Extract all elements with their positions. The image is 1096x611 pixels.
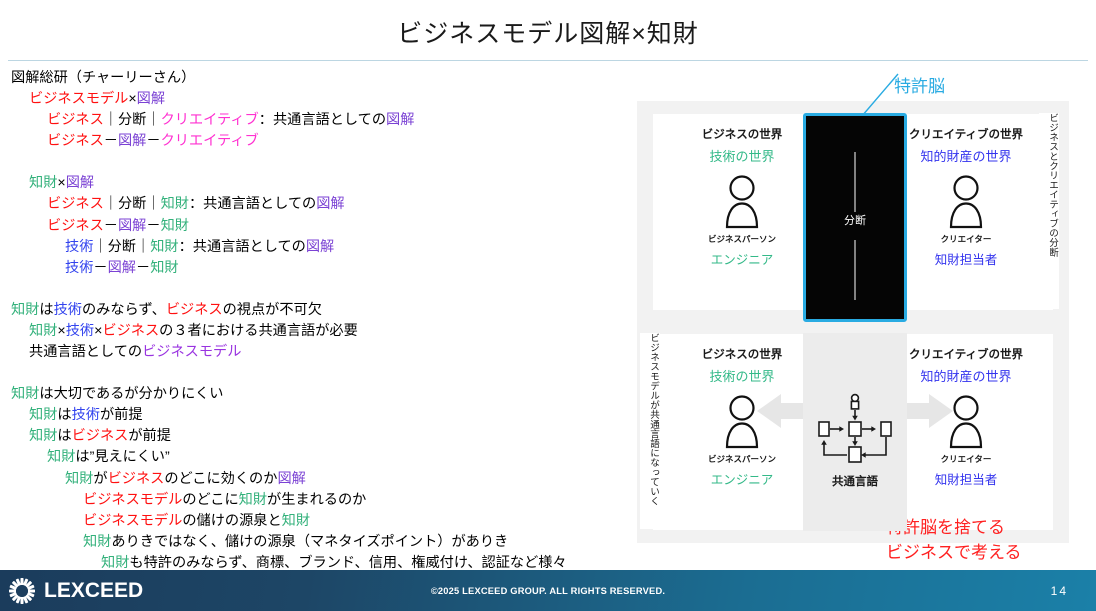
outline-span: 図解 (386, 112, 414, 128)
outline-span: 分断 (108, 239, 136, 255)
outline-span: が (93, 471, 107, 487)
outline-line: ビジネス｜分断｜クリエイティブ：共通言語としての図解 (11, 110, 651, 131)
outline-span: 共通言語としての (29, 344, 142, 360)
outline-span: 分断 (118, 112, 146, 128)
business-model-glyph-icon (817, 393, 893, 467)
common-language-label: 共通言語 (803, 473, 907, 489)
outline-span: 図解 (277, 471, 305, 487)
outline-span: ｜ (104, 112, 118, 128)
outline-span: 知財 (29, 175, 57, 191)
outline-span: 技術 (72, 407, 100, 423)
outline-span: 図解 (66, 175, 94, 191)
outline-spacer (11, 152, 651, 173)
outline-span: 知財 (29, 323, 57, 339)
world-subheading: 知的財産の世界 (891, 146, 1041, 165)
outline-span: が前提 (128, 428, 171, 444)
bottom-annotation-line2: ビジネスで考える (886, 540, 1022, 565)
outline-span: 知財 (150, 239, 178, 255)
outline-line: 知財はビジネスが前提 (11, 426, 651, 447)
outline-spacer (11, 363, 651, 384)
outline-span: 図解 (118, 218, 146, 234)
outline-span: 知財 (29, 428, 57, 444)
outline-span: は”見えにくい” (75, 449, 169, 465)
title-divider (8, 60, 1088, 61)
world-subheading: 知的財産の世界 (891, 366, 1041, 385)
bottom-left-world: ビジネスの世界 技術の世界 ビジネスパーソン エンジニア (667, 346, 817, 488)
top-left-world: ビジネスの世界 技術の世界 ビジネスパーソン エンジニア (667, 126, 817, 268)
world-heading: クリエイティブの世界 (891, 126, 1041, 142)
outline-line: 知財ありきではなく、儲けの源泉（マネタイズポイント）がありき (11, 532, 651, 553)
division-line-lower (855, 240, 856, 300)
outline-span: － (93, 260, 107, 276)
outline-span: 技術 (54, 302, 82, 318)
outline-span: も特許のみならず、商標、ブランド、信用、権威付け、認証など様々 (129, 555, 566, 571)
world-role-alt: 知財担当者 (891, 469, 1041, 488)
outline-line: ビジネスモデル×図解 (11, 89, 651, 110)
page-number: 14 (1051, 570, 1068, 611)
outline-span: のどこに効くのか (164, 471, 277, 487)
outline-span: ｜ (146, 112, 160, 128)
outline-span: ：共通言語としての (189, 196, 316, 212)
outline-span: 技術 (65, 260, 93, 276)
page-title: ビジネスモデル図解×知財 (0, 14, 1096, 50)
world-role: ビジネスパーソン (667, 233, 817, 245)
outline-span: － (146, 218, 160, 234)
outline-span: が前提 (100, 407, 143, 423)
outline-line: ビジネス｜分断｜知財：共通言語としての図解 (11, 194, 651, 215)
outline-span: ビジネス (166, 302, 223, 318)
outline-span: クリエイティブ (161, 133, 259, 149)
outline-line: 知財×図解 (11, 173, 651, 194)
outline-span: ビジネス (47, 112, 104, 128)
outline-span: ビジネス (47, 133, 104, 149)
outline-span: ビジネスモデル (83, 492, 182, 508)
bottom-right-world: クリエイティブの世界 知的財産の世界 クリエイター 知財担当者 (891, 346, 1041, 488)
outline-span: は大切であるが分かりにくい (39, 386, 223, 402)
outline-line: ビジネスモデルのどこに知財が生まれるのか (11, 490, 651, 511)
outline-span: 知財 (11, 386, 39, 402)
outline-span: 技術 (66, 323, 94, 339)
outline-span: 知財 (239, 492, 267, 508)
outline-span: ｜ (136, 239, 150, 255)
world-subheading: 技術の世界 (667, 146, 817, 165)
outline-span: は (57, 407, 71, 423)
outline-span: 図解 (137, 91, 165, 107)
outline-line: 技術｜分断｜知財：共通言語としての図解 (11, 237, 651, 258)
outline-span: ｜ (93, 239, 107, 255)
outline-span: 図解 (306, 239, 334, 255)
outline-span: クリエイティブ (161, 112, 259, 128)
world-role: ビジネスパーソン (667, 453, 817, 465)
bottom-panel-side-label: ビジネスモデルが共通言語になっていく (640, 333, 660, 529)
outline-span: 知財 (282, 513, 310, 529)
outline-span: のみならず、 (82, 302, 166, 318)
outline-span: の視点が不可欠 (223, 302, 322, 318)
world-heading: クリエイティブの世界 (891, 346, 1041, 362)
outline-line: 知財は大切であるが分かりにくい (11, 384, 651, 405)
slide-root: ビジネスモデル図解×知財 図解総研（チャーリーさん）ビジネスモデル×図解ビジネス… (0, 0, 1096, 611)
outline-span: 分断 (118, 196, 146, 212)
outline-line: 技術－図解－知財 (11, 258, 651, 279)
copyright-text: ©2025 LEXCEED GROUP. ALL RIGHTS RESERVED… (0, 570, 1096, 611)
world-role-alt: エンジニア (667, 249, 817, 268)
outline-spacer (11, 279, 651, 300)
outline-span: 図解 (118, 133, 146, 149)
business-person-icon (719, 394, 765, 449)
outline-span: 知財 (11, 302, 39, 318)
outline-span: 技術 (65, 239, 93, 255)
outline-line: ビジネス－図解－クリエイティブ (11, 131, 651, 152)
outline-line: 知財がビジネスのどこに効くのか図解 (11, 469, 651, 490)
outline-span: 知財 (29, 407, 57, 423)
outline-line: 図解総研（チャーリーさん） (11, 68, 651, 89)
outline-span: ありきではなく、儲けの源泉（マネタイズポイント）がありき (111, 534, 508, 550)
outline-span: のどこに (182, 492, 238, 508)
creator-person-icon (943, 174, 989, 229)
outline-span: 知財 (101, 555, 129, 571)
outline-line: 共通言語としてのビジネスモデル (11, 342, 651, 363)
business-person-icon (719, 174, 765, 229)
concept-diagram: ビジネスの世界 技術の世界 ビジネスパーソン エンジニア クリエイティブの世界 … (637, 101, 1069, 543)
outline-span: － (136, 260, 150, 276)
outline-span: ビジネス (47, 196, 104, 212)
outline-span: ：共通言語としての (259, 112, 386, 128)
division-label: 分断 (806, 212, 904, 228)
outline-span: 図解総研（チャーリーさん） (11, 70, 195, 86)
outline-line: 知財×技術×ビジネスの３者における共通言語が必要 (11, 321, 651, 342)
creator-person-icon (943, 394, 989, 449)
outline-span: × (57, 323, 65, 339)
outline-span: ビジネス (108, 471, 165, 487)
outline-span: ビジネス (102, 323, 159, 339)
slide-footer: LEXCEED ©2025 LEXCEED GROUP. ALL RIGHTS … (0, 570, 1096, 611)
outline-span: 知財 (161, 196, 189, 212)
world-heading: ビジネスの世界 (667, 126, 817, 142)
outline-span: ビジネスモデル (142, 344, 241, 360)
outline-span: － (146, 133, 160, 149)
top-annotation: 特許脳 (894, 72, 945, 97)
outline-line: 知財は技術が前提 (11, 405, 651, 426)
outline-span: 知財 (83, 534, 111, 550)
outline-line: 知財は技術のみならず、ビジネスの視点が不可欠 (11, 300, 651, 321)
outline-text-block: 図解総研（チャーリーさん）ビジネスモデル×図解ビジネス｜分断｜クリエイティブ：共… (11, 68, 651, 574)
top-right-world: クリエイティブの世界 知的財産の世界 クリエイター 知財担当者 (891, 126, 1041, 268)
world-role-alt: 知財担当者 (891, 249, 1041, 268)
outline-span: 知財 (65, 471, 93, 487)
world-role: クリエイター (891, 453, 1041, 465)
outline-span: が生まれるのか (267, 492, 366, 508)
outline-span: ビジネス (47, 218, 104, 234)
division-line-upper (855, 152, 856, 212)
outline-span: 知財 (47, 449, 75, 465)
top-panel-side-label: ビジネスとクリエイティブの分断 (1039, 113, 1059, 309)
outline-span: － (104, 218, 118, 234)
outline-span: は (57, 428, 71, 444)
outline-span: 知財 (161, 218, 189, 234)
outline-span: ｜ (104, 196, 118, 212)
outline-span: × (57, 175, 65, 191)
outline-span: は (39, 302, 53, 318)
outline-span: ：共通言語としての (179, 239, 306, 255)
outline-span: ｜ (146, 196, 160, 212)
outline-line: ビジネス－図解－知財 (11, 216, 651, 237)
outline-span: の儲けの源泉と (182, 513, 281, 529)
outline-line: ビジネスモデルの儲けの源泉と知財 (11, 511, 651, 532)
outline-span: の３者における共通言語が必要 (159, 323, 358, 339)
outline-span: ビジネスモデル (29, 91, 128, 107)
outline-span: － (104, 133, 118, 149)
outline-line: 知財は”見えにくい” (11, 447, 651, 468)
outline-span: 図解 (316, 196, 344, 212)
outline-span: ビジネスモデル (83, 513, 182, 529)
world-role-alt: エンジニア (667, 469, 817, 488)
world-heading: ビジネスの世界 (667, 346, 817, 362)
world-role: クリエイター (891, 233, 1041, 245)
world-subheading: 技術の世界 (667, 366, 817, 385)
outline-span: ビジネス (72, 428, 129, 444)
outline-span: 知財 (150, 260, 178, 276)
outline-span: 図解 (108, 260, 136, 276)
outline-span: × (128, 91, 136, 107)
